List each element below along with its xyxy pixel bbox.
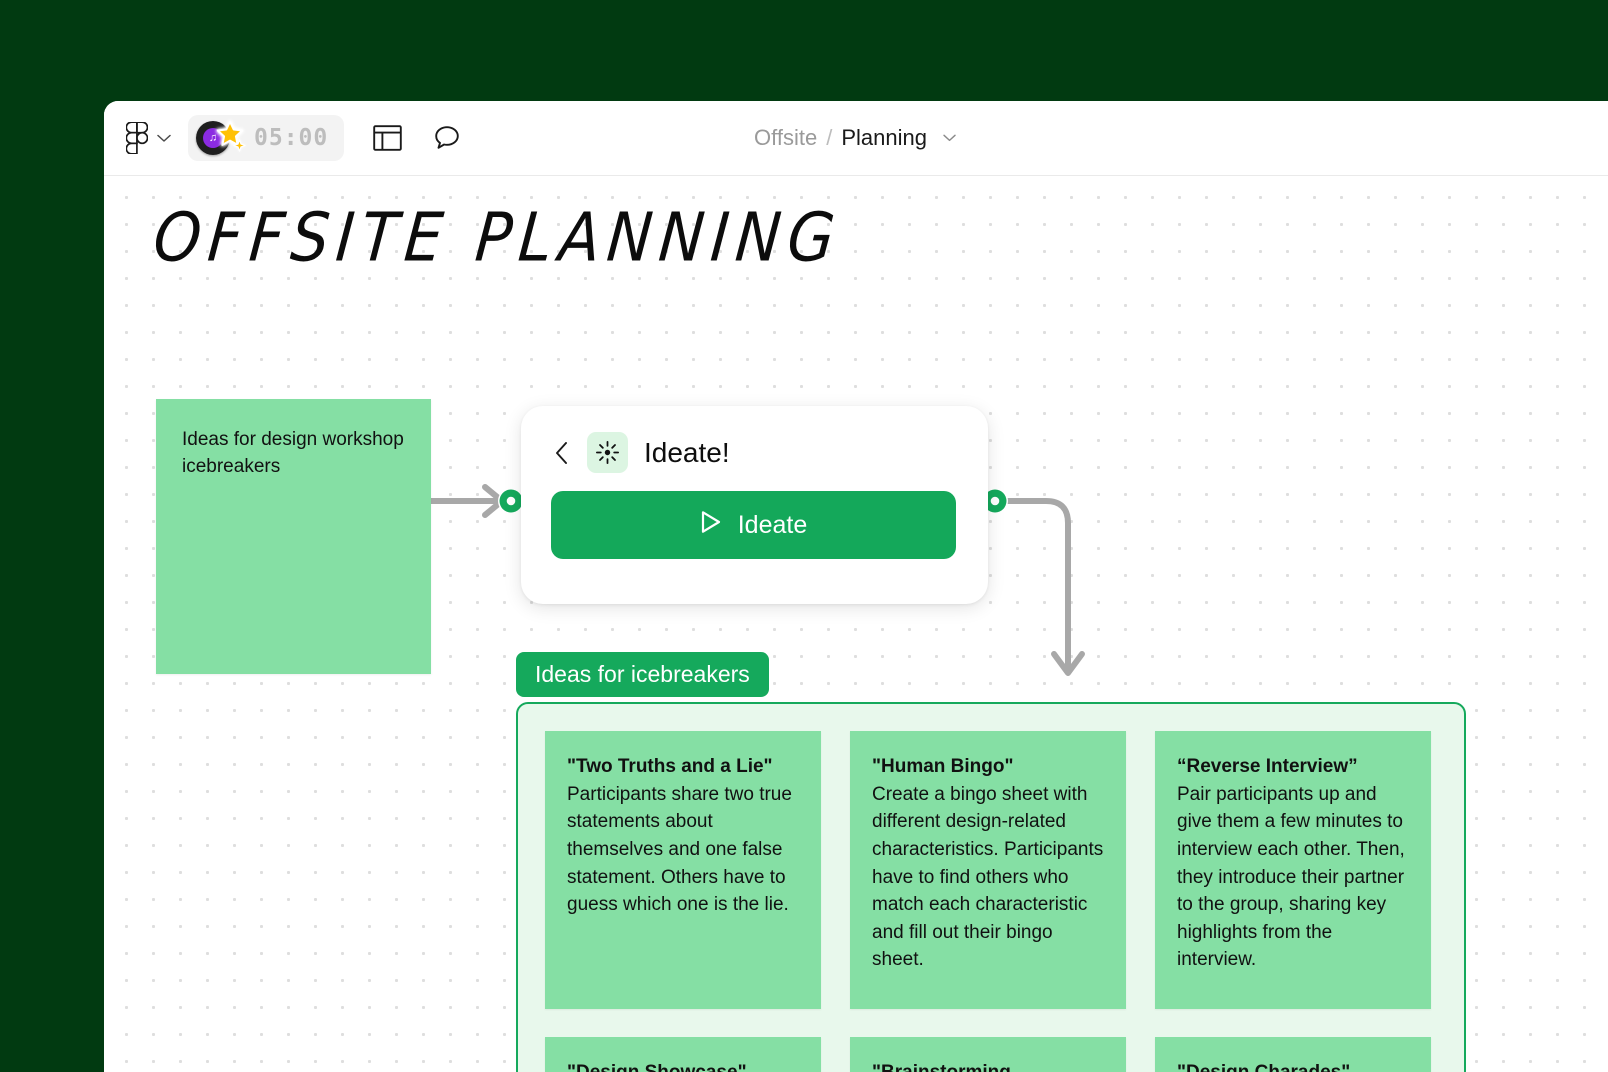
top-toolbar: ♫ 05:00 (104, 101, 1608, 176)
ideate-button-label: Ideate (738, 511, 808, 540)
vinyl-record-icon: ♫ (196, 118, 248, 158)
idea-note[interactable]: "Design Charades" Participants act out (1155, 1037, 1431, 1072)
page-title: OFFSITE PLANNING (151, 199, 845, 277)
idea-note-heading: "Two Truths and a Lie" (567, 753, 799, 781)
input-sticky-note[interactable]: Ideas for design workshop icebreakers (156, 399, 431, 674)
chevron-down-icon[interactable] (942, 130, 958, 146)
screen: ♫ 05:00 (0, 0, 1608, 1072)
results-panel[interactable]: "Two Truths and a Lie" Participants shar… (516, 702, 1466, 1072)
idea-note-body: Create a bingo sheet with different desi… (872, 784, 1103, 971)
panel-layout-icon[interactable] (370, 121, 404, 155)
breadcrumb-current[interactable]: Planning (841, 125, 927, 151)
figma-window: ♫ 05:00 (104, 101, 1608, 1072)
breadcrumb-parent[interactable]: Offsite (754, 125, 817, 151)
idea-note-heading: "Design Charades" (1177, 1059, 1409, 1072)
idea-note[interactable]: "Brainstorming Challenge" Provide a desi… (850, 1037, 1126, 1072)
timer-value: 05:00 (254, 125, 328, 151)
idea-note-heading: "Brainstorming Challenge" (872, 1059, 1104, 1072)
toolbar-left-group: ♫ 05:00 (104, 115, 464, 161)
idea-note[interactable]: “Reverse Interview” Pair participants up… (1155, 731, 1431, 1009)
ideate-card-title: Ideate! (644, 437, 730, 469)
ideate-card[interactable]: Ideate! Ideate (521, 406, 988, 604)
idea-note-body: Pair participants up and give them a few… (1177, 784, 1405, 971)
comment-bubble-icon[interactable] (430, 121, 464, 155)
breadcrumb: Offsite / Planning (754, 125, 958, 151)
sparkle-icon (233, 139, 246, 152)
idea-note-heading: "Design Showcase" (567, 1059, 799, 1072)
idea-note[interactable]: "Human Bingo" Create a bingo sheet with … (850, 731, 1126, 1009)
idea-note-body: Participants share two true statements a… (567, 784, 792, 916)
breadcrumb-separator: / (826, 125, 832, 151)
ideate-button[interactable]: Ideate (551, 491, 956, 559)
idea-note-grid: "Two Truths and a Lie" Participants shar… (545, 731, 1437, 1072)
idea-note-heading: "Human Bingo" (872, 753, 1104, 781)
music-timer-pill[interactable]: ♫ 05:00 (188, 115, 344, 161)
idea-note[interactable]: "Design Showcase" Ask participants to br… (545, 1037, 821, 1072)
board-canvas[interactable]: OFFSITE PLANNING Ideas for design worksh… (104, 176, 1608, 1072)
figma-logo-icon[interactable] (124, 121, 150, 155)
idea-note-heading: “Reverse Interview” (1177, 753, 1409, 781)
play-triangle-icon (700, 510, 722, 541)
group-label[interactable]: Ideas for icebreakers (516, 652, 769, 697)
idea-note[interactable]: "Two Truths and a Lie" Participants shar… (545, 731, 821, 1009)
chevron-left-icon[interactable] (551, 441, 571, 465)
ideate-card-header: Ideate! (551, 432, 958, 473)
spark-burst-icon (587, 432, 628, 473)
chevron-down-icon[interactable] (156, 130, 172, 146)
